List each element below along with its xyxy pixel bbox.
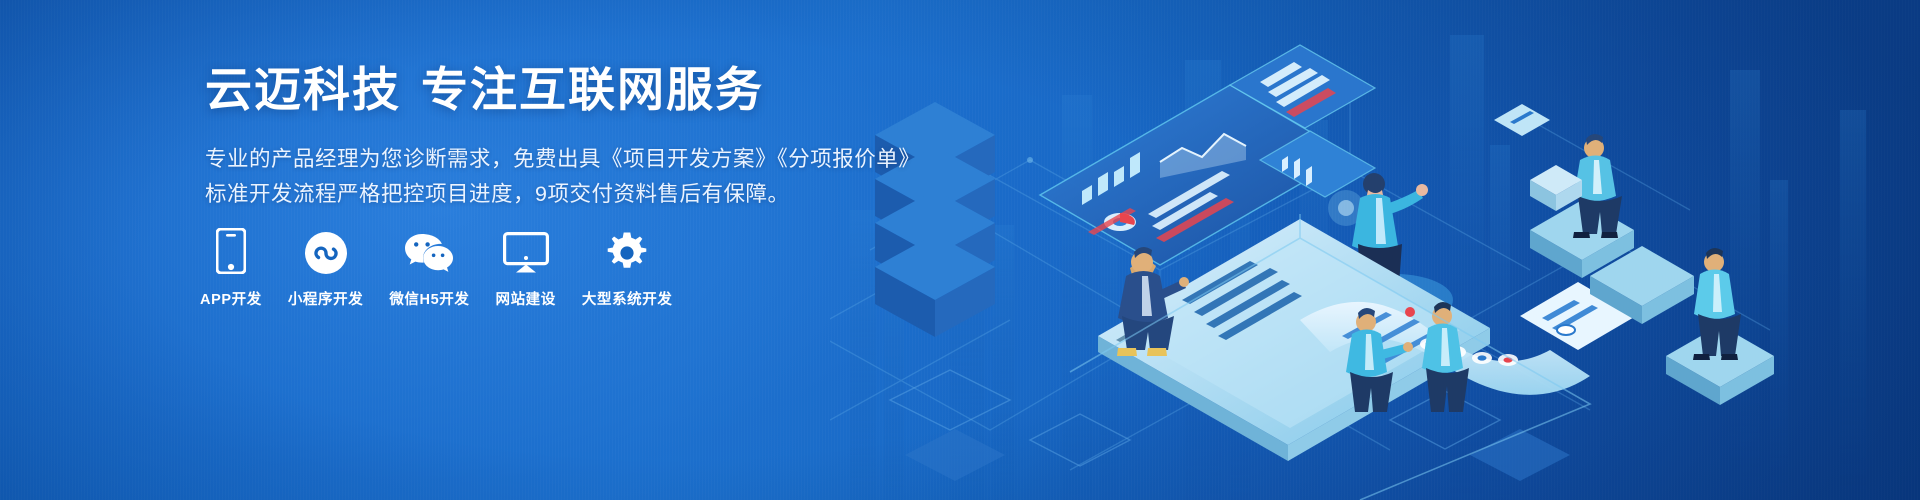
gear-icon [606,228,648,274]
page-title-brand: 云迈科技 [205,63,401,116]
service-label: 大型系统开发 [582,288,673,309]
banner-content: 云迈科技专注互联网服务 专业的产品经理为您诊断需求，免费出具《项目开发方案》《分… [205,62,905,211]
wechat-icon [405,228,453,274]
floating-chat-card [1494,104,1550,136]
isometric-small-box [1530,165,1582,211]
service-item-wechat-h5[interactable]: 微信H5开发 [389,228,469,309]
service-label: 网站建设 [495,288,555,309]
monitor-icon [503,228,549,274]
service-label: 微信H5开发 [389,288,469,309]
service-item-large-system[interactable]: 大型系统开发 [582,228,673,309]
mobile-phone-icon [216,228,246,274]
subtitle-line-1: 专业的产品经理为您诊断需求，免费出具《项目开发方案》《分项报价单》 [205,143,905,176]
hero-banner: 云迈科技专注互联网服务 专业的产品经理为您诊断需求，免费出具《项目开发方案》《分… [0,0,1920,500]
service-label: APP开发 [200,288,262,309]
service-item-miniprogram[interactable]: 小程序开发 [288,228,364,309]
service-label: 小程序开发 [288,288,364,309]
service-item-app[interactable]: APP开发 [200,228,262,309]
page-title: 云迈科技专注互联网服务 [205,62,905,117]
mini-program-icon [305,228,347,274]
service-list: APP开发 小程序开发 微信 [200,228,672,309]
service-item-website[interactable]: 网站建设 [495,228,555,309]
illustration-isometric-business-analytics [830,0,1920,500]
subtitle-line-2: 标准开发流程严格把控项目进度，9项交付资料售后有保障。 [205,178,905,211]
page-title-tagline: 专注互联网服务 [421,63,764,116]
